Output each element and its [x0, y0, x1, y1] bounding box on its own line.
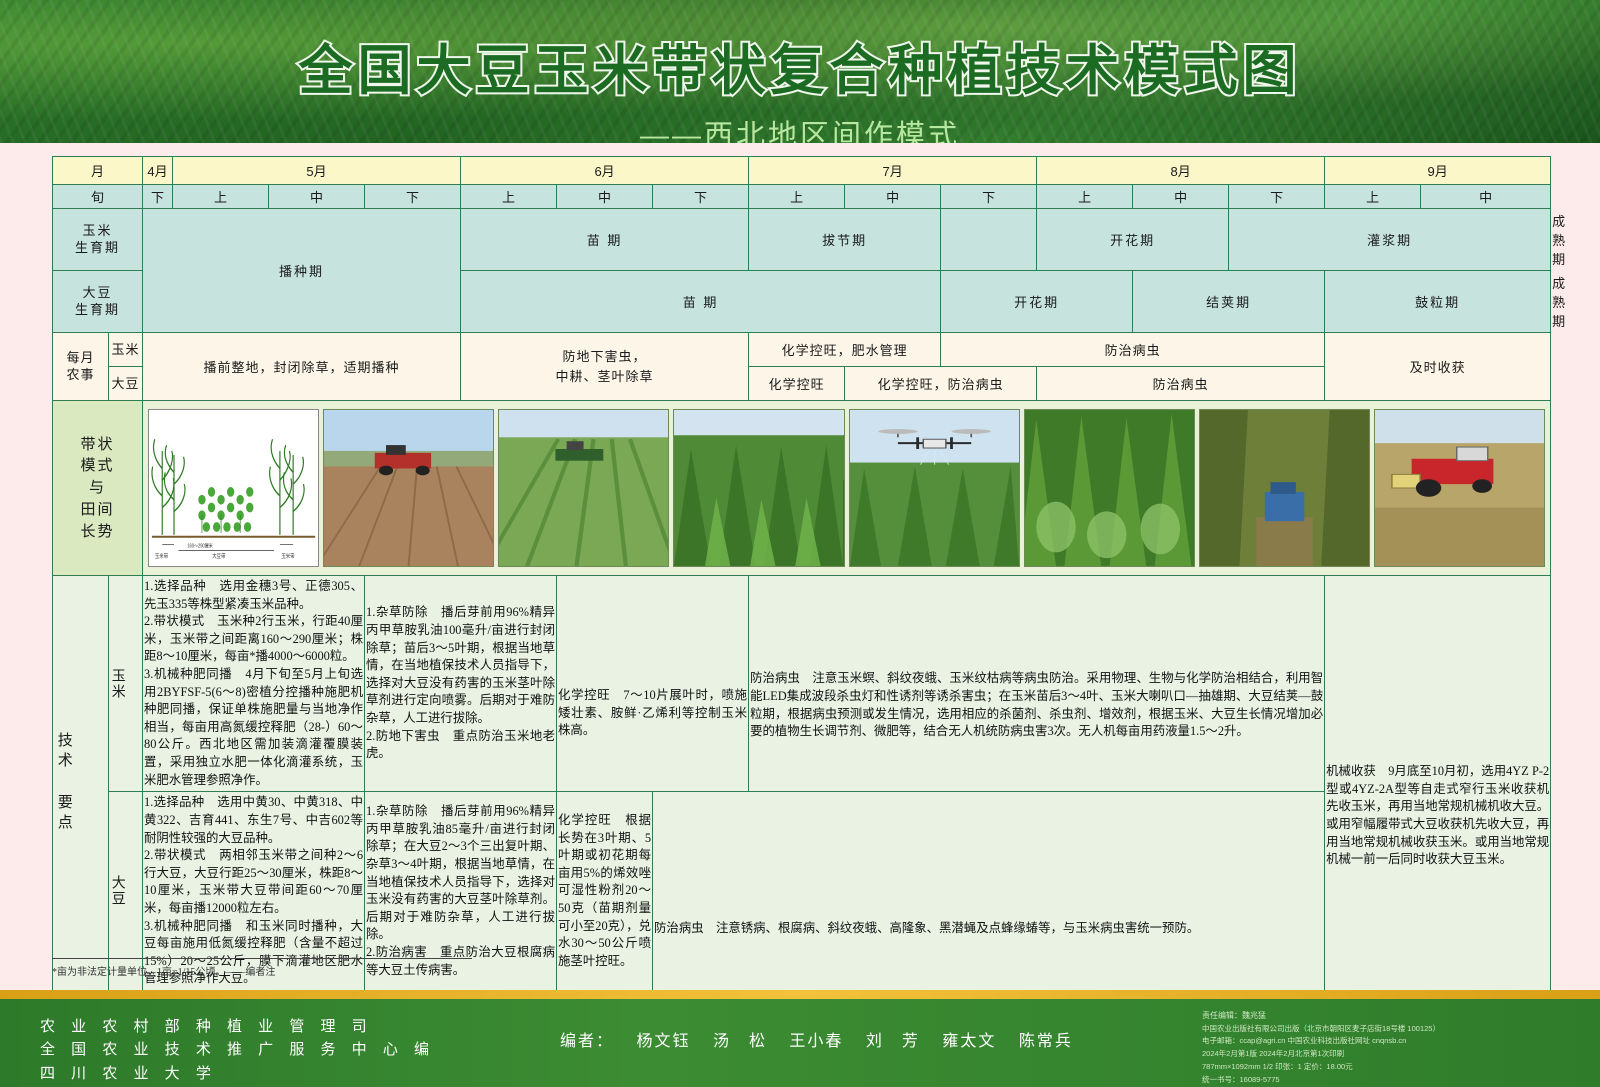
xun-cell-4: 上 — [461, 185, 557, 209]
xun-cell-3: 下 — [365, 185, 461, 209]
editor-2: 汤 松 — [713, 1033, 767, 1050]
farm-corn-sowing: 播前整地，封闭除草，适期播种 — [143, 333, 461, 401]
month-cell-7: 7月 — [749, 157, 1037, 185]
photo-strip-label: 带状 模式 与 田间 长势 — [53, 401, 143, 576]
poster-root: 全国大豆玉米带状复合种植技术模式图 ——西北地区间作模式 月 4月 5月 6月 … — [0, 0, 1600, 1087]
flowering-art — [1025, 410, 1194, 566]
farm-corn-harvest: 及时收获 — [1325, 333, 1551, 401]
drone-art — [850, 410, 1019, 566]
gold-divider — [0, 990, 1600, 999]
drone-spraying-photo — [849, 409, 1020, 567]
month-cell-9: 9月 — [1325, 157, 1551, 185]
soy-stage-pod: 结荚期 — [1133, 271, 1325, 333]
tech-corn-row: 技术 要点 玉米 1.选择品种 选用金穗3号、正德305、先玉335等株型紧凑玉… — [53, 576, 1551, 792]
xun-cell-8: 中 — [845, 185, 941, 209]
editor-5: 雍太文 — [942, 1033, 996, 1050]
editor-4: 刘 芳 — [866, 1033, 920, 1050]
soy-stage-flowering: 开花期 — [941, 271, 1133, 333]
xun-cell-13: 上 — [1325, 185, 1421, 209]
corn-stage-flowering: 开花期 — [1037, 209, 1229, 271]
page-title: 全国大豆玉米带状复合种植技术模式图 — [0, 26, 1600, 105]
corn-stage-filling: 灌浆期 — [1229, 209, 1551, 271]
tech-points-label-text: 技术 要点 — [54, 732, 73, 834]
corn-stage-sowing: 播种期 — [143, 209, 461, 333]
farm-work-label: 每月 农事 — [53, 333, 109, 401]
xun-cell-5: 中 — [557, 185, 653, 209]
farm-corn-disease: 防治病虫 — [941, 333, 1325, 367]
mature-field-art — [1200, 410, 1369, 566]
publisher-line-1: 农 业 农 村 部 种 植 业 管 理 司 — [40, 1015, 435, 1038]
farm-corn-row: 每月 农事 玉米 播前整地，封闭除草，适期播种 防地下害虫， 中耕、茎叶除草 化… — [53, 333, 1551, 367]
corn-stage-jointing: 拔节期 — [749, 209, 941, 271]
flowering-field-photo — [1024, 409, 1195, 567]
xun-cell-11: 中 — [1133, 185, 1229, 209]
corn-soybean-strip-photo — [673, 409, 844, 567]
svg-text:大豆带: 大豆带 — [212, 551, 225, 560]
farm-soy-growth-control: 化学控旺 — [749, 367, 845, 401]
imprint-line-2: 中国农业出版社有限公司出版（北京市朝阳区麦子店街18号楼 100125） — [1202, 1023, 1582, 1036]
tech-soy-col3: 化学控旺 根据长势在3叶期、5叶期或初花期每亩用5%的烯效唑可湿性粉剂20～50… — [557, 792, 653, 991]
page-subtitle: ——西北地区间作模式 — [0, 112, 1600, 143]
farm-corn-pest: 防地下害虫， 中耕、茎叶除草 — [461, 333, 749, 401]
tech-corn-col2: 1.杂草防除 播后芽前用96%精异丙甲草胺乳油100毫升/亩进行封闭除草；苗后3… — [365, 576, 557, 792]
farm-corn-growth-control: 化学控旺，肥水管理 — [749, 333, 941, 367]
tech-soy-col4: 防治病虫 注意锈病、根腐病、斜纹夜蛾、高隆象、黑潜蝇及点蜂缘蝽等，与玉米病虫害统… — [653, 792, 1325, 991]
imprint-line-6: 统一书号：16089-5775 — [1202, 1074, 1582, 1087]
seeding-machine-photo — [323, 409, 494, 567]
farm-soy-label: 大豆 — [109, 367, 143, 401]
photo-strip-cell: 玉米带 大豆带 玉米带 160～290厘米 — [143, 401, 1551, 576]
main-sheet: 月 4月 5月 6月 7月 8月 9月 旬 下 上 中 下 上 中 下 上 中 … — [52, 156, 1548, 991]
harvester-photo — [1374, 409, 1545, 567]
tech-points-label: 技术 要点 — [53, 576, 109, 991]
publisher-line-3: 四 川 农 业 大 学 — [40, 1062, 435, 1085]
photo-strip-row: 带状 模式 与 田间 长势 — [53, 401, 1551, 576]
soy-stage-grain: 鼓粒期 — [1325, 271, 1551, 333]
svg-text:玉米带: 玉米带 — [155, 551, 168, 560]
month-cell-4: 4月 — [143, 157, 173, 185]
xun-cell-9: 下 — [941, 185, 1037, 209]
tech-corn-col1: 1.选择品种 选用金穗3号、正德305、先玉335等株型紧凑玉米品种。 2.带状… — [143, 576, 365, 792]
month-cell-6: 6月 — [461, 157, 749, 185]
mature-field-photo — [1199, 409, 1370, 567]
page-footer: 农 业 农 村 部 种 植 业 管 理 司 全 国 农 业 技 术 推 广 服 … — [0, 999, 1600, 1087]
xun-cell-6: 下 — [653, 185, 749, 209]
xun-cell-1: 上 — [173, 185, 269, 209]
imprint-line-3: 电子邮箱：ccap@agri.cn 中国农业科技出版社网址 cnqnsb.cn — [1202, 1035, 1582, 1048]
imprint-line-1: 责任编辑：魏兆猛 — [1202, 1009, 1582, 1023]
corn-growth-row: 玉米 生育期 播种期 苗 期 拔节期 开花期 灌浆期 成熟期 — [53, 209, 1551, 271]
editor-6: 陈常兵 — [1019, 1033, 1073, 1050]
editors-block: 编者： 杨文钰 汤 松 王小春 刘 芳 雍太文 陈常兵 — [560, 1027, 1089, 1051]
model-table: 月 4月 5月 6月 7月 8月 9月 旬 下 上 中 下 上 中 下 上 中 … — [52, 156, 1551, 991]
xun-row-label: 旬 — [53, 185, 143, 209]
xun-row: 旬 下 上 中 下 上 中 下 上 中 下 上 中 下 上 中 — [53, 185, 1551, 209]
month-row: 月 4月 5月 6月 7月 8月 9月 — [53, 157, 1551, 185]
tech-corn-label: 玉米 — [109, 576, 143, 792]
soy-stage-seedling: 苗 期 — [461, 271, 941, 333]
seedling-field-photo — [498, 409, 669, 567]
imprint-block: 责任编辑：魏兆猛 中国农业出版社有限公司出版（北京市朝阳区麦子店街18号楼 10… — [1202, 1009, 1582, 1086]
publisher-block: 农 业 农 村 部 种 植 业 管 理 司 全 国 农 业 技 术 推 广 服 … — [40, 1015, 435, 1085]
xun-cell-14: 中 — [1421, 185, 1551, 209]
tech-corn-col4: 防治病虫 注意玉米螟、斜纹夜蛾、玉米纹枯病等病虫防治。采用物理、生物与化学防治相… — [749, 576, 1325, 792]
tech-harvest-col: 机械收获 9月底至10月初，选用4YZ P-2型或4YZ-2A型等自走式窄行玉米… — [1325, 576, 1551, 991]
farm-corn-label: 玉米 — [109, 333, 143, 367]
editor-1: 杨文钰 — [636, 1033, 690, 1050]
strip-pattern-svg: 玉米带 大豆带 玉米带 160～290厘米 — [149, 410, 318, 566]
xun-cell-12: 下 — [1229, 185, 1325, 209]
farm-soy-disease: 防治病虫 — [1037, 367, 1325, 401]
svg-text:玉米带: 玉米带 — [281, 551, 294, 560]
corn-stage-blank — [941, 209, 1037, 271]
field-layout-diagram: 玉米带 大豆带 玉米带 160～290厘米 — [148, 409, 319, 567]
farm-soy-control-disease: 化学控旺，防治病虫 — [845, 367, 1037, 401]
imprint-line-5: 787mm×1092mm 1/2 印张：1 定价：18.00元 — [1202, 1061, 1582, 1074]
tech-corn-col3: 化学控旺 7～10片展叶时，喷施矮壮素、胺鲜·乙烯利等控制玉米株高。 — [557, 576, 749, 792]
tech-corn-label-text: 玉米 — [110, 668, 127, 700]
editor-3: 王小春 — [789, 1033, 843, 1050]
seedling-field-art — [499, 410, 668, 566]
xun-cell-7: 上 — [749, 185, 845, 209]
corn-stage-seedling: 苗 期 — [461, 209, 749, 271]
month-row-label: 月 — [53, 157, 143, 185]
tech-soy-label-text: 大豆 — [110, 875, 127, 907]
seeding-machine-art — [324, 410, 493, 566]
header-banner: 全国大豆玉米带状复合种植技术模式图 ——西北地区间作模式 — [0, 0, 1600, 143]
corn-growth-label: 玉米 生育期 — [53, 209, 143, 271]
xun-cell-10: 上 — [1037, 185, 1133, 209]
editors-label: 编者： — [560, 1033, 614, 1050]
harvester-art — [1375, 410, 1544, 566]
month-cell-8: 8月 — [1037, 157, 1325, 185]
strip-growth-art — [674, 410, 843, 566]
footnote: *亩为非法定计量单位，1亩=1/15公顷。——编者注 — [52, 958, 472, 978]
month-cell-5: 5月 — [173, 157, 461, 185]
publisher-line-2: 全 国 农 业 技 术 推 广 服 务 中 心 编 — [40, 1038, 435, 1061]
xun-cell-2: 中 — [269, 185, 365, 209]
soy-growth-label: 大豆 生育期 — [53, 271, 143, 333]
xun-cell-0: 下 — [143, 185, 173, 209]
imprint-line-4: 2024年2月第1版 2024年2月北京第1次印刷 — [1202, 1048, 1582, 1061]
